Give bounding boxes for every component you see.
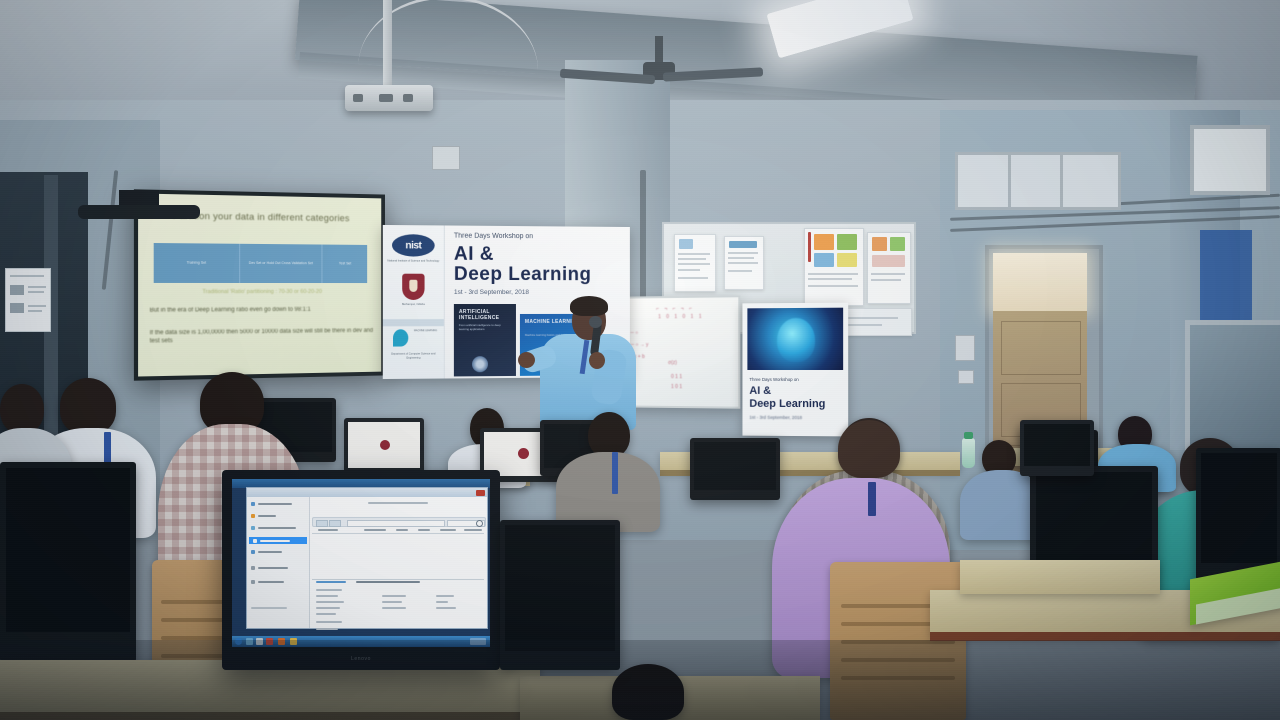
presenter-hair: [570, 296, 608, 316]
notice-poster: [804, 228, 864, 306]
slide-table: Training Set Dev Set or Hold Out Cross V…: [153, 243, 367, 283]
file-explorer-window[interactable]: [246, 487, 488, 629]
sidebar-item-this-pc[interactable]: [251, 513, 305, 519]
attendee-lanyard: [612, 452, 618, 494]
banner-side-text: National Institute of Science and Techno…: [387, 259, 440, 263]
workshop-poster-secondary: Three Days Workshop on AI & Deep Learnin…: [742, 303, 848, 437]
explorer-details-pane: [312, 581, 484, 635]
slide-subtitle: Traditional 'Ratio' partitioning : 70-30…: [161, 289, 360, 295]
top-right-window: [1190, 125, 1270, 195]
wall-pipe: [640, 170, 646, 300]
poster-title-line1: AI &: [749, 385, 771, 397]
slide-content: Partition your data in different categor…: [138, 193, 381, 376]
slide-table-header-cell: Dev Set or Hold Out Cross Validation Set: [239, 244, 322, 283]
wall-socket[interactable]: [958, 370, 974, 384]
monitor: [690, 438, 780, 500]
address-bar[interactable]: [347, 520, 445, 527]
monitor-stand-base: [78, 205, 200, 219]
banner-kicker: Three Days Workshop on: [454, 233, 533, 241]
column-date-modified[interactable]: [364, 529, 386, 531]
projector-mount-pole: [383, 0, 392, 92]
forward-button[interactable]: [329, 520, 341, 527]
column-dimensions[interactable]: [464, 529, 482, 531]
sidebar-item-downloads[interactable]: [251, 579, 305, 585]
column-size[interactable]: [418, 529, 430, 531]
poster-title-line2: Deep Learning: [749, 398, 825, 410]
column-type[interactable]: [396, 529, 408, 531]
door-glass-panel: [993, 253, 1087, 311]
sidebar-item-libraries[interactable]: [251, 549, 305, 555]
ai-chip-icon: [472, 356, 488, 372]
banner-side-text: Berhampur, Odisha: [387, 303, 440, 307]
sidebar-tree-handle[interactable]: [251, 605, 305, 611]
attendee-lanyard: [868, 482, 876, 516]
explorer-content-pane[interactable]: [310, 497, 487, 628]
banner-ai-panel: ARTIFICIAL INTELLIGENCE From artificial …: [454, 304, 516, 376]
attendee-head: [60, 378, 116, 434]
ceiling-projector-icon: [345, 85, 433, 111]
column-date-taken[interactable]: [440, 529, 456, 531]
slide-body-line: If the data size is 1,00,0000 then 5000 …: [150, 327, 374, 347]
ai-panel-body: From artificial intelligence to deep lea…: [459, 323, 511, 332]
back-button[interactable]: [316, 520, 328, 527]
banner-sidebar: nist National Institute of Science and T…: [383, 225, 445, 379]
slide-body-line: But in the era of Deep Learning ratio ev…: [150, 306, 374, 316]
banner-date: 1st - 3rd September, 2018: [454, 289, 529, 296]
slide-table-header-cell: Training Set: [153, 243, 238, 283]
monitor-screen[interactable]: [232, 479, 490, 647]
search-icon[interactable]: [476, 520, 483, 527]
close-icon[interactable]: [476, 490, 485, 496]
monitor: [0, 462, 136, 662]
water-bottle[interactable]: [962, 438, 975, 468]
content-heading-placeholder: [368, 502, 428, 504]
explorer-sidebar[interactable]: [247, 497, 310, 628]
sidebar-item-documents[interactable]: [251, 565, 305, 571]
sidebar-item-network[interactable]: [251, 525, 305, 531]
banner-side-text: Department of Computer Science and Engin…: [387, 352, 440, 360]
sidebar-item-quick-access[interactable]: [251, 501, 305, 507]
alcove-wall-poster: [5, 268, 51, 332]
poster-ai-brain-image: [747, 308, 843, 370]
floor-shadow: [0, 640, 1280, 720]
ai-panel-heading: ARTIFICIAL INTELLIGENCE: [459, 309, 516, 322]
column-name[interactable]: [318, 529, 338, 531]
monitor: [1020, 420, 1094, 476]
desk-right-mid: [960, 560, 1160, 594]
attendee-head: [838, 420, 900, 478]
institute-crest-icon: [402, 274, 424, 300]
classroom-photo-scene: Partition your data in different categor…: [0, 0, 1280, 720]
slide-table-header-cell: Test Set: [322, 245, 368, 284]
sidebar-item-local-disk[interactable]: [249, 537, 307, 544]
details-title: [356, 581, 420, 583]
presenter-left-hand: [518, 352, 535, 368]
wall-switch-box[interactable]: [955, 335, 975, 361]
banner-title-line2: Deep Learning: [454, 264, 592, 286]
wall-speaker-box: [432, 146, 460, 170]
laptop: [344, 418, 424, 474]
bottle-cap: [964, 432, 973, 439]
brain-graphic-icon: [777, 318, 815, 362]
monitor: [1196, 448, 1280, 580]
attendee-head: [0, 384, 44, 434]
banner-dept-text: MACHINE LEARNING: [409, 330, 441, 334]
poster-date: 1st - 3rd September, 2018: [749, 415, 802, 420]
explorer-toolbar[interactable]: [312, 517, 486, 527]
transom-window: [955, 152, 1121, 210]
notice-sheet: [674, 234, 716, 292]
explorer-column-headers[interactable]: [312, 527, 484, 534]
details-header: [316, 581, 346, 583]
pane-splitter[interactable]: [312, 579, 484, 580]
microphone-head: [589, 316, 602, 328]
banner-title-line1: AI &: [454, 244, 494, 266]
presenter-right-hand: [589, 352, 605, 369]
department-logo-icon: [393, 329, 408, 346]
notice-poster: [867, 232, 911, 304]
nist-logo-icon: nist: [392, 234, 435, 256]
notice-sheet: [724, 236, 764, 290]
poster-kicker: Three Days Workshop on: [749, 377, 798, 382]
